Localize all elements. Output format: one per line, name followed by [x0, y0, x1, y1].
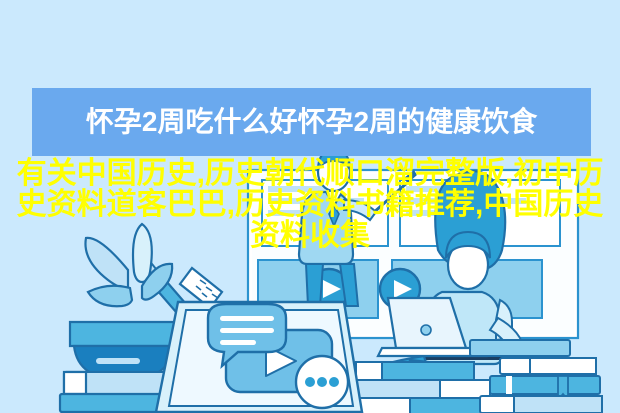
title-banner: 怀孕2周吃什么好怀孕2周的健康饮食 [32, 88, 591, 156]
keyword-caption: 有关中国历史,历史朝代顺口溜完整版,初中历史资料道客巴巴,历史资料书籍推荐,中国… [0, 158, 620, 251]
more-dots [296, 356, 348, 408]
screenshot-canvas: 怀孕2周吃什么好怀孕2周的健康饮食 有关中国历史,历史朝代顺口溜完整版,初中历史… [0, 0, 620, 413]
page-title: 怀孕2周吃什么好怀孕2周的健康饮食 [86, 108, 537, 136]
